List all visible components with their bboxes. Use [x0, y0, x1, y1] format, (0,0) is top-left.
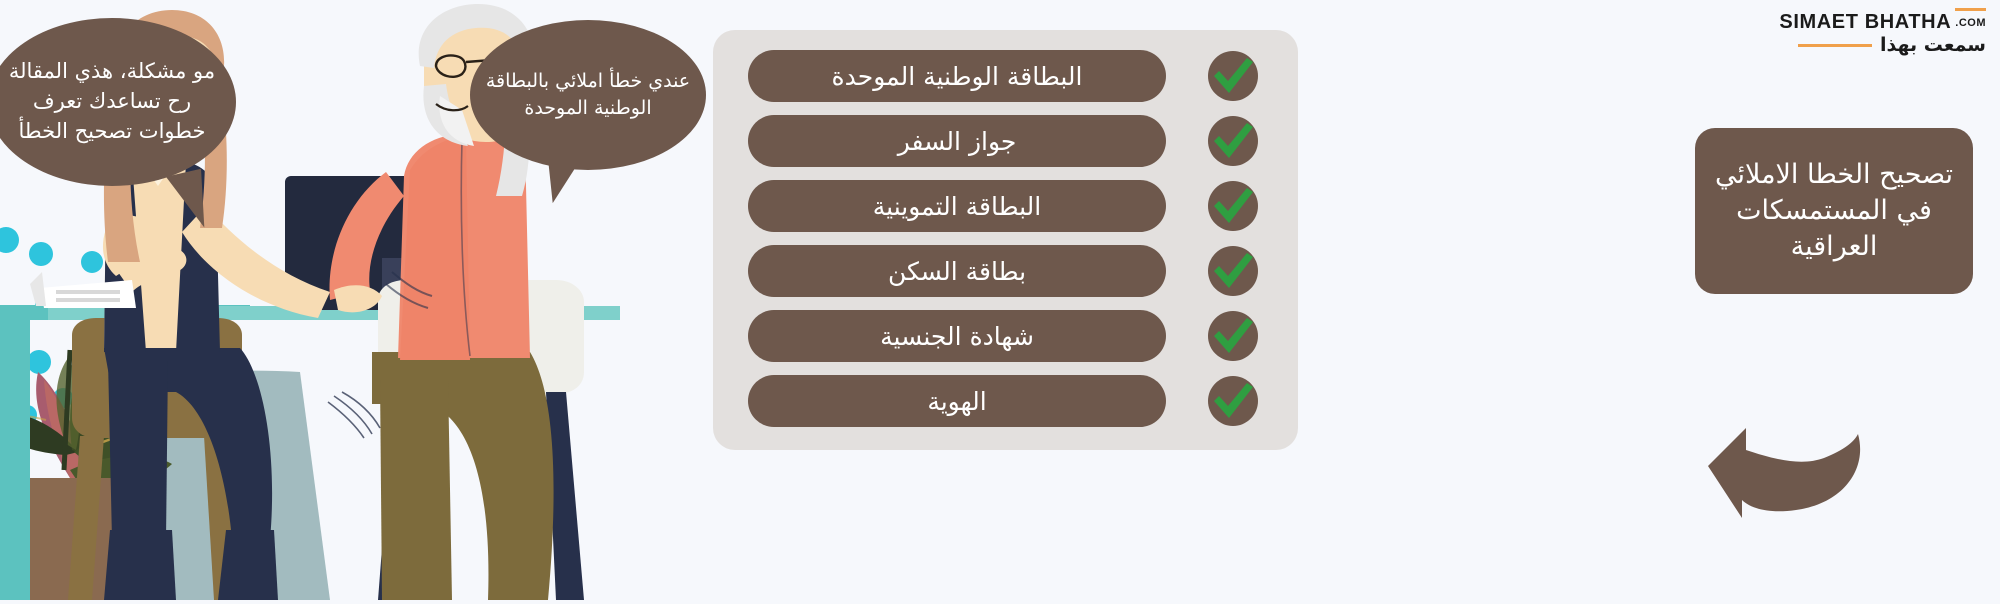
list-item[interactable]: الهوية	[748, 375, 1166, 427]
logo-arabic-row: سمعت بهذا	[1779, 36, 1986, 55]
arrow-svg	[1690, 408, 1890, 528]
documents-list: البطاقة الوطنية الموحدة جواز السفر البطا…	[748, 50, 1166, 440]
logo-name-en: SIMAET BHATHA	[1779, 11, 1951, 33]
document-label: جواز السفر	[898, 127, 1017, 156]
document-label: البطاقة التموينية	[873, 192, 1041, 221]
logo-name-ar: سمعت بهذا	[1880, 36, 1986, 55]
man-speech-text: عندي خطأ املائي بالبطاقة الوطنية الموحدة	[484, 68, 692, 122]
checkmark-list	[1203, 50, 1275, 440]
status-badge	[1203, 375, 1263, 427]
status-badge	[1203, 115, 1263, 167]
document-label: البطاقة الوطنية الموحدة	[832, 62, 1083, 91]
check-icon	[1210, 381, 1256, 421]
curved-arrow-left-icon	[1690, 408, 1890, 528]
site-logo[interactable]: SIMAET BHATHA.COM سمعت بهذا	[1779, 8, 1986, 55]
status-badge	[1203, 180, 1263, 232]
logo-underline	[1798, 44, 1872, 47]
document-label: شهادة الجنسية	[880, 322, 1034, 351]
man-speech-bubble: عندي خطأ املائي بالبطاقة الوطنية الموحدة	[470, 20, 706, 170]
page-title: تصحيح الخطا الاملائي في المستمسكات العرا…	[1711, 157, 1957, 266]
check-icon	[1210, 316, 1256, 356]
logo-domain-wrap: .COM	[1955, 8, 1986, 32]
document-label: الهوية	[927, 387, 986, 416]
check-icon	[1210, 56, 1256, 96]
woman-speech-text: مو مشكلة، هذي المقالة رح تساعدك تعرف خطو…	[4, 57, 220, 146]
check-icon	[1210, 121, 1256, 161]
list-item[interactable]: جواز السفر	[748, 115, 1166, 167]
logo-domain: .COM	[1955, 17, 1986, 29]
bubble-tail	[541, 154, 581, 206]
article-title-box: تصحيح الخطا الاملائي في المستمسكات العرا…	[1695, 128, 1973, 294]
logo-name-row: SIMAET BHATHA.COM	[1779, 8, 1986, 32]
list-item[interactable]: شهادة الجنسية	[748, 310, 1166, 362]
check-icon	[1210, 186, 1256, 226]
poster-canvas: مو مشكلة، هذي المقالة رح تساعدك تعرف خطو…	[0, 0, 2000, 600]
document-label: بطاقة السكن	[888, 257, 1026, 286]
list-item[interactable]: البطاقة التموينية	[748, 180, 1166, 232]
status-badge	[1203, 245, 1263, 297]
list-item[interactable]: البطاقة الوطنية الموحدة	[748, 50, 1166, 102]
check-icon	[1210, 251, 1256, 291]
status-badge	[1203, 50, 1263, 102]
status-badge	[1203, 310, 1263, 362]
list-item[interactable]: بطاقة السكن	[748, 245, 1166, 297]
